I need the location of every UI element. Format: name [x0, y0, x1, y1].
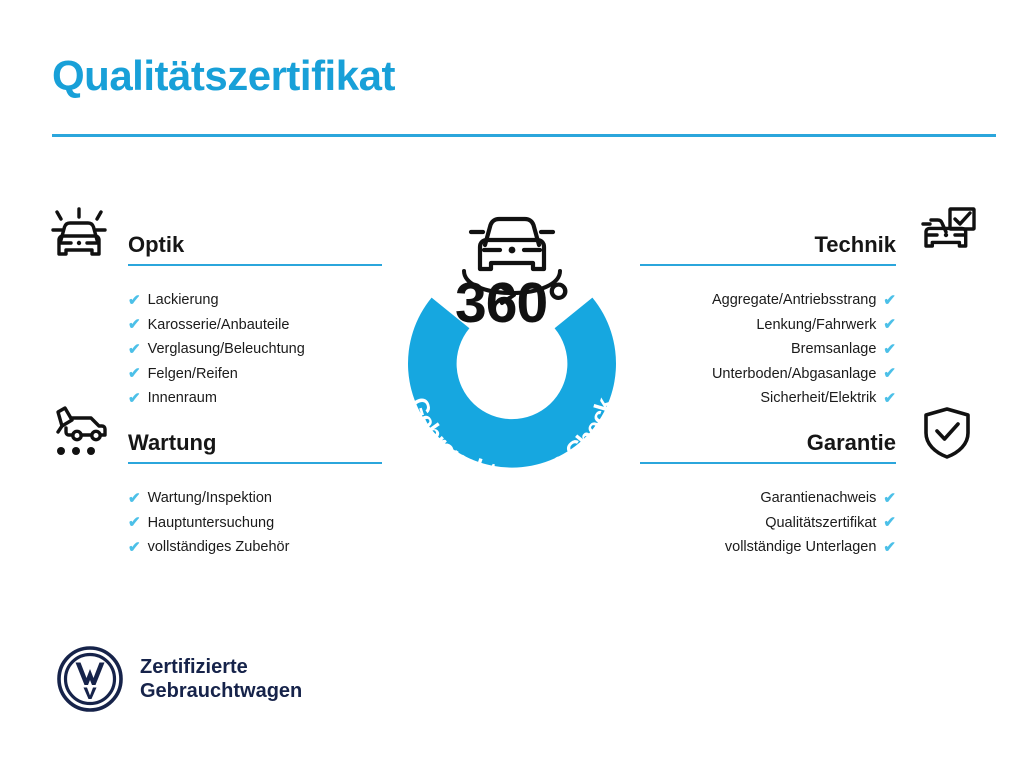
badge-360-svg: Gebrauchtwagen-Check — [372, 192, 652, 512]
section-wartung-title: Wartung — [128, 432, 382, 462]
list-item-label: vollständige Unterlagen — [725, 539, 877, 555]
section-wartung-list: ✔Wartung/Inspektion ✔Hauptuntersuchung ✔… — [128, 486, 382, 560]
section-technik-list: Aggregate/Antriebsstrang✔ Lenkung/Fahrwe… — [640, 288, 896, 411]
section-garantie-titlewrap: Garantie — [640, 398, 910, 464]
section-technik-titlewrap: Technik — [640, 200, 910, 266]
check-icon: ✔ — [128, 540, 141, 555]
list-item-label: Qualitätszertifikat — [765, 515, 876, 531]
check-icon: ✔ — [883, 342, 896, 357]
volkswagen-logo-icon — [56, 645, 124, 713]
check-icon: ✔ — [883, 317, 896, 332]
shield-check-icon — [910, 398, 984, 470]
section-technik-rule — [640, 264, 896, 266]
badge-center-text: 360° — [372, 270, 652, 336]
car-checkbox-icon — [910, 200, 984, 272]
list-item-label: Unterboden/Abgasanlage — [712, 366, 876, 382]
check-icon: ✔ — [883, 491, 896, 506]
check-icon: ✔ — [128, 515, 141, 530]
section-garantie-list: Garantienachweis✔ Qualitätszertifikat✔ v… — [640, 486, 896, 560]
header-divider — [52, 134, 996, 137]
list-item-label: Bremsanlage — [791, 341, 876, 357]
check-icon: ✔ — [128, 293, 141, 308]
list-item: ✔Karosserie/Anbauteile — [128, 313, 382, 338]
section-garantie-header: Garantie — [640, 398, 984, 476]
section-wartung-header: Wartung — [42, 398, 382, 476]
list-item: Qualitätszertifikat✔ — [765, 511, 896, 536]
pen-car-service-icon — [42, 398, 116, 470]
section-technik: Technik Aggregate/Antriebsstrang✔ Lenkun… — [640, 200, 984, 411]
footer-logo-line1: Zertifizierte — [140, 655, 302, 679]
list-item: ✔Hauptuntersuchung — [128, 511, 382, 536]
list-item: Bremsanlage✔ — [791, 337, 896, 362]
list-item: vollständige Unterlagen✔ — [725, 535, 896, 560]
check-icon: ✔ — [883, 540, 896, 555]
check-icon: ✔ — [128, 366, 141, 381]
section-technik-header: Technik — [640, 200, 984, 278]
section-optik-title: Optik — [128, 234, 382, 264]
list-item-label: Lenkung/Fahrwerk — [756, 317, 876, 333]
list-item: Lenkung/Fahrwerk✔ — [756, 313, 896, 338]
list-item-label: Hauptuntersuchung — [148, 515, 275, 531]
list-item-label: Garantienachweis — [760, 490, 876, 506]
section-optik: Optik ✔Lackierung ✔Karosserie/Anbauteile… — [42, 200, 382, 411]
list-item-label: Karosserie/Anbauteile — [148, 317, 290, 333]
check-icon: ✔ — [128, 317, 141, 332]
list-item-label: vollständiges Zubehör — [148, 539, 290, 555]
check-icon: ✔ — [883, 366, 896, 381]
list-item: Aggregate/Antriebsstrang✔ — [712, 288, 896, 313]
list-item: ✔vollständiges Zubehör — [128, 535, 382, 560]
check-icon: ✔ — [128, 491, 141, 506]
footer-logo-text: Zertifizierte Gebrauchtwagen — [140, 655, 302, 703]
section-optik-rule — [128, 264, 382, 266]
section-garantie: Garantie Garantienachweis✔ Qualitätszert… — [640, 398, 984, 560]
footer-logo-line2: Gebrauchtwagen — [140, 679, 302, 703]
footer-logo: Zertifizierte Gebrauchtwagen — [56, 645, 302, 713]
check-icon: ✔ — [883, 515, 896, 530]
list-item-label: Wartung/Inspektion — [148, 490, 272, 506]
list-item: Unterboden/Abgasanlage✔ — [712, 362, 896, 387]
list-item-label: Lackierung — [148, 292, 219, 308]
list-item: ✔Lackierung — [128, 288, 382, 313]
section-wartung-rule — [128, 462, 382, 464]
list-item: ✔Verglasung/Beleuchtung — [128, 337, 382, 362]
list-item: ✔Felgen/Reifen — [128, 362, 382, 387]
list-item: ✔Wartung/Inspektion — [128, 486, 382, 511]
check-icon: ✔ — [883, 293, 896, 308]
list-item: Garantienachweis✔ — [760, 486, 896, 511]
page-title: Qualitätszertifikat — [52, 55, 395, 97]
section-garantie-title: Garantie — [640, 432, 896, 462]
badge-360-gebrauchtwagen-check: Gebrauchtwagen-Check 360° — [372, 192, 652, 512]
section-garantie-rule — [640, 462, 896, 464]
section-wartung-titlewrap: Wartung — [116, 398, 382, 464]
list-item-label: Felgen/Reifen — [148, 366, 238, 382]
section-optik-titlewrap: Optik — [116, 200, 382, 266]
list-item-label: Aggregate/Antriebsstrang — [712, 292, 876, 308]
check-icon: ✔ — [128, 342, 141, 357]
section-wartung: Wartung ✔Wartung/Inspektion ✔Hauptunters… — [42, 398, 382, 560]
section-optik-list: ✔Lackierung ✔Karosserie/Anbauteile ✔Verg… — [128, 288, 382, 411]
car-shine-icon — [42, 200, 116, 272]
list-item-label: Verglasung/Beleuchtung — [148, 341, 305, 357]
section-technik-title: Technik — [640, 234, 896, 264]
section-optik-header: Optik — [42, 200, 382, 278]
